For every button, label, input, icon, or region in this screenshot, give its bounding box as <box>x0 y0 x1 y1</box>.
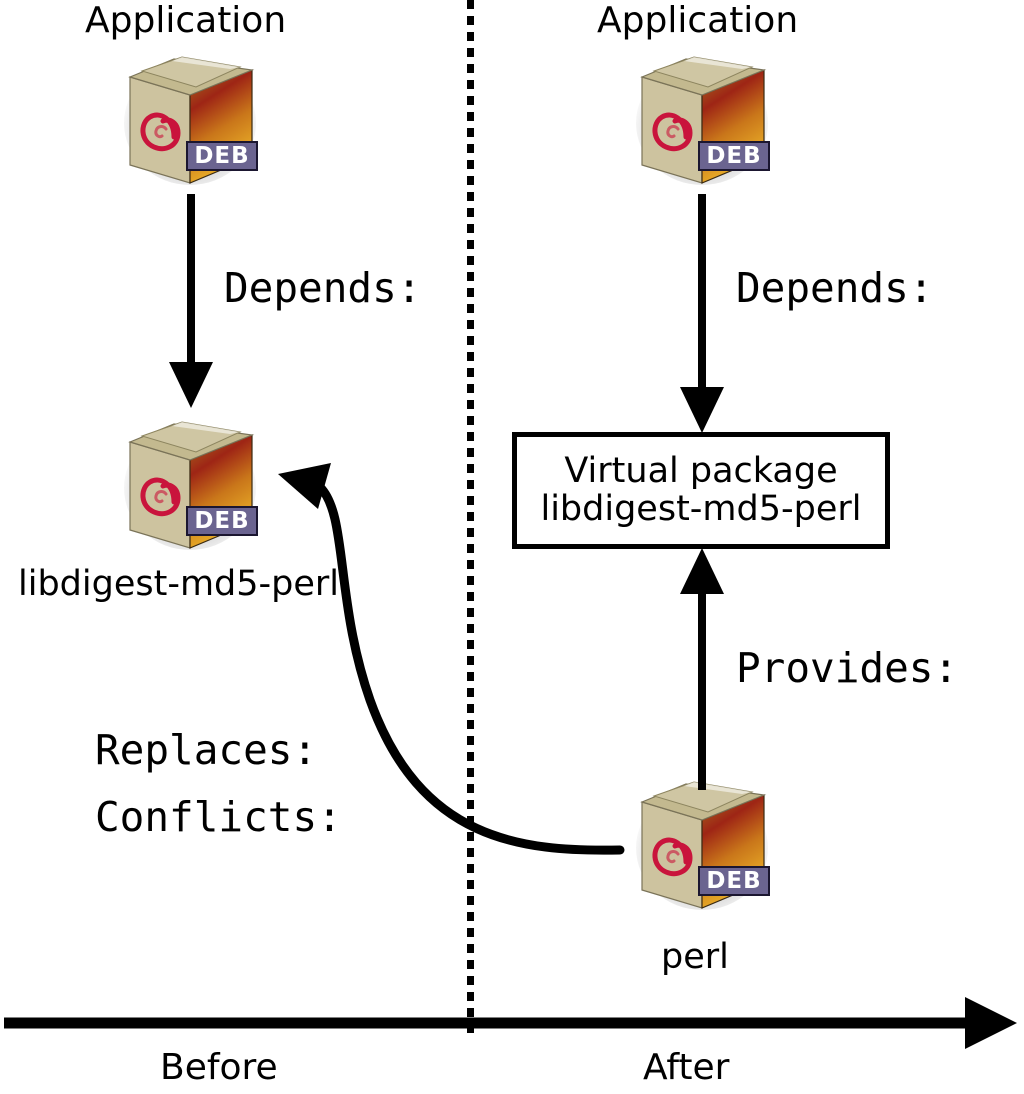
arrow-depends-after <box>680 194 724 433</box>
diagram-canvas: Application Application <box>0 0 1024 1094</box>
deb-badge: DEB <box>186 506 258 536</box>
debian-package-icon: DEB <box>624 770 784 920</box>
debian-package-icon: DEB <box>624 45 784 195</box>
label-conflicts: Conflicts: <box>95 797 342 838</box>
deb-badge: DEB <box>186 141 258 171</box>
arrow-depends-before <box>169 194 213 408</box>
svg-text:DEB: DEB <box>706 868 761 894</box>
before-after-divider <box>467 0 474 1035</box>
debian-package-icon: DEB <box>112 45 272 195</box>
deb-badge: DEB <box>698 141 770 171</box>
virtual-package-line1: Virtual package <box>564 453 837 490</box>
label-provides: Provides: <box>736 648 958 689</box>
virtual-package-line2: libdigest-md5-perl <box>540 491 861 528</box>
label-libdigest-md5-perl: libdigest-md5-perl <box>18 567 339 602</box>
label-replaces: Replaces: <box>95 730 317 771</box>
deb-badge: DEB <box>698 866 770 896</box>
label-depends-before: Depends: <box>224 268 421 309</box>
arrow-provides <box>680 548 724 790</box>
label-depends-after: Depends: <box>736 268 933 309</box>
debian-package-icon: DEB <box>112 410 272 560</box>
timeline-label-after: After <box>643 1050 729 1086</box>
title-after-application: Application <box>597 3 798 39</box>
svg-text:DEB: DEB <box>194 143 249 169</box>
label-perl: perl <box>661 940 729 975</box>
timeline-label-before: Before <box>160 1050 278 1086</box>
timeline-axis <box>4 997 1017 1049</box>
svg-text:DEB: DEB <box>706 143 761 169</box>
svg-text:DEB: DEB <box>194 508 249 534</box>
title-before-application: Application <box>85 3 286 39</box>
virtual-package-box: Virtual package libdigest-md5-perl <box>512 432 890 549</box>
